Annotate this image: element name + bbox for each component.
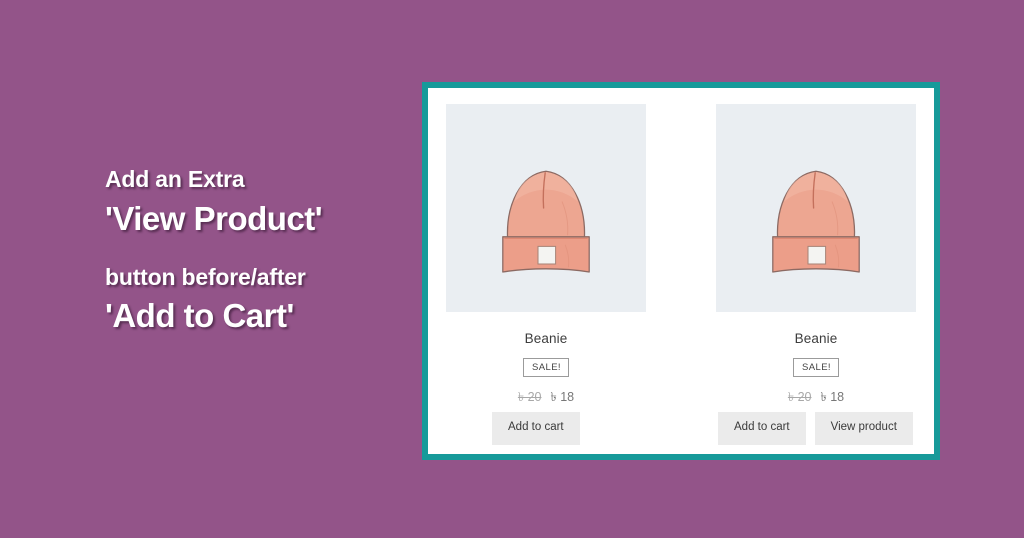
price-original: ৳ 20 [518,390,542,404]
product-card-after: Beanie SALE! ৳ 20৳ 18 [716,104,916,409]
price-sale: ৳ 18 [821,390,845,404]
beanie-illustration-icon [446,104,646,312]
card-before-button-row: Add to cart [492,412,580,445]
product-title[interactable]: Beanie [716,331,916,346]
price-row: ৳ 20৳ 18 [446,389,646,409]
price-sale: ৳ 18 [551,390,575,404]
panel-inner: Beanie SALE! ৳ 20৳ 18 Add to cart [428,88,934,454]
product-title[interactable]: Beanie [446,331,646,346]
product-image-after[interactable] [716,104,916,312]
headline-spacer [105,241,405,263]
promo-headline: Add an Extra 'View Product' button befor… [105,165,405,338]
add-to-cart-button[interactable]: Add to cart [492,412,580,445]
price-original: ৳ 20 [788,390,812,404]
status-badge-sale: SALE! [793,358,839,377]
status-badge-sale: SALE! [523,358,569,377]
headline-line-1: Add an Extra [105,165,405,194]
sale-badge-wrapper: SALE! [716,357,916,377]
product-preview-panel: Beanie SALE! ৳ 20৳ 18 Add to cart [422,82,940,460]
add-to-cart-button[interactable]: Add to cart [718,412,806,445]
card-after-button-row: Add to cart View product [718,412,913,445]
headline-line-4: 'Add to Cart' [105,295,405,338]
headline-line-2: 'View Product' [105,198,405,241]
sale-badge-wrapper: SALE! [446,357,646,377]
price-row: ৳ 20৳ 18 [716,389,916,409]
view-product-button[interactable]: View product [815,412,913,445]
beanie-illustration-icon [716,104,916,312]
product-card-before: Beanie SALE! ৳ 20৳ 18 [446,104,646,409]
headline-line-3: button before/after [105,263,405,292]
product-image-before[interactable] [446,104,646,312]
